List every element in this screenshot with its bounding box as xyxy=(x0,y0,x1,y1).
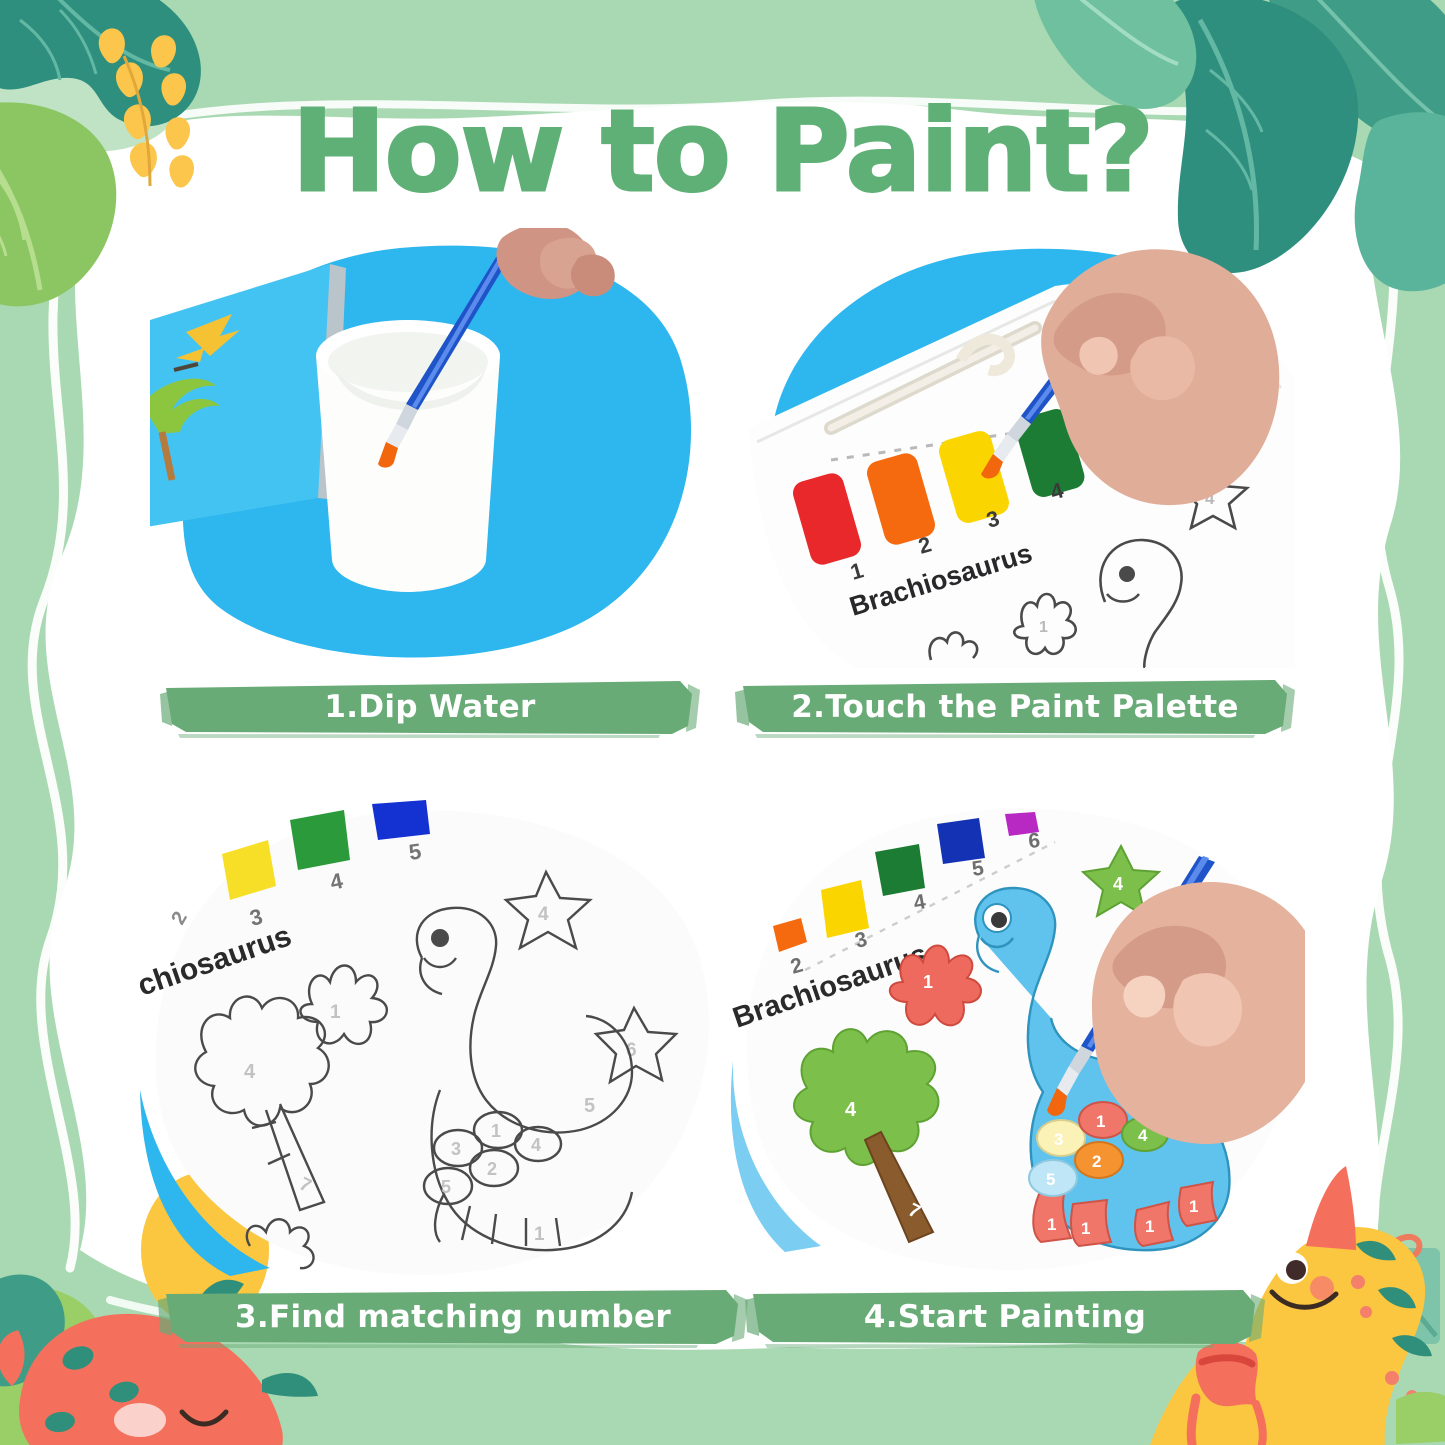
step-card-3[interactable]: 3 4 5 2 chiosaurus xyxy=(140,790,720,1350)
step-2-photo: 1 2 3 4 5 xyxy=(735,228,1295,668)
svg-text:3: 3 xyxy=(1054,1130,1063,1149)
poster-canvas: How to Paint? xyxy=(0,0,1445,1445)
svg-text:5: 5 xyxy=(441,1177,451,1197)
svg-text:4: 4 xyxy=(845,1099,857,1121)
svg-text:1: 1 xyxy=(1039,619,1048,636)
svg-text:1: 1 xyxy=(491,1121,501,1141)
svg-text:3: 3 xyxy=(451,1139,461,1159)
svg-text:4: 4 xyxy=(538,904,549,925)
step-2-caption-banner: 2.Touch the Paint Palette xyxy=(735,676,1295,738)
svg-text:1: 1 xyxy=(1081,1219,1090,1238)
steps-grid: 1.Dip Water xyxy=(0,0,1445,1445)
svg-text:1: 1 xyxy=(1189,1197,1198,1216)
step-1-caption: 1.Dip Water xyxy=(324,689,535,725)
svg-text:1: 1 xyxy=(1047,1215,1056,1234)
step-4-photo: 2 3 4 5 6 xyxy=(725,790,1305,1280)
svg-text:4: 4 xyxy=(1113,874,1123,894)
step-card-1[interactable]: 1.Dip Water xyxy=(150,228,710,768)
paint-book xyxy=(150,264,346,528)
svg-text:1: 1 xyxy=(330,1002,341,1023)
svg-text:1: 1 xyxy=(1096,1112,1105,1131)
svg-text:2: 2 xyxy=(167,908,192,929)
step-3-photo: 3 4 5 2 chiosaurus xyxy=(140,790,720,1280)
step-3-caption: 3.Find matching number xyxy=(235,1299,671,1335)
svg-text:1: 1 xyxy=(923,972,933,992)
step-4-caption-banner: 4.Start Painting xyxy=(745,1286,1265,1348)
svg-text:1: 1 xyxy=(1145,1217,1154,1236)
step-1-photo xyxy=(150,228,710,668)
step-3-caption-banner: 3.Find matching number xyxy=(158,1286,748,1348)
step-card-2[interactable]: 1 2 3 4 5 xyxy=(735,228,1295,768)
step-2-caption: 2.Touch the Paint Palette xyxy=(791,689,1238,725)
svg-text:2: 2 xyxy=(487,1159,497,1179)
svg-text:1: 1 xyxy=(534,1224,545,1245)
svg-text:4: 4 xyxy=(1138,1126,1148,1145)
svg-text:4: 4 xyxy=(531,1135,541,1155)
svg-text:4: 4 xyxy=(244,1061,256,1083)
svg-text:2: 2 xyxy=(1092,1152,1101,1171)
water-cup xyxy=(316,320,500,592)
svg-text:6: 6 xyxy=(1027,829,1041,853)
svg-text:5: 5 xyxy=(1046,1170,1055,1189)
step-1-caption-banner: 1.Dip Water xyxy=(160,676,700,738)
svg-text:5: 5 xyxy=(584,1095,595,1117)
step-4-caption: 4.Start Painting xyxy=(864,1299,1146,1335)
step-card-4[interactable]: 2 3 4 5 6 xyxy=(725,790,1305,1350)
